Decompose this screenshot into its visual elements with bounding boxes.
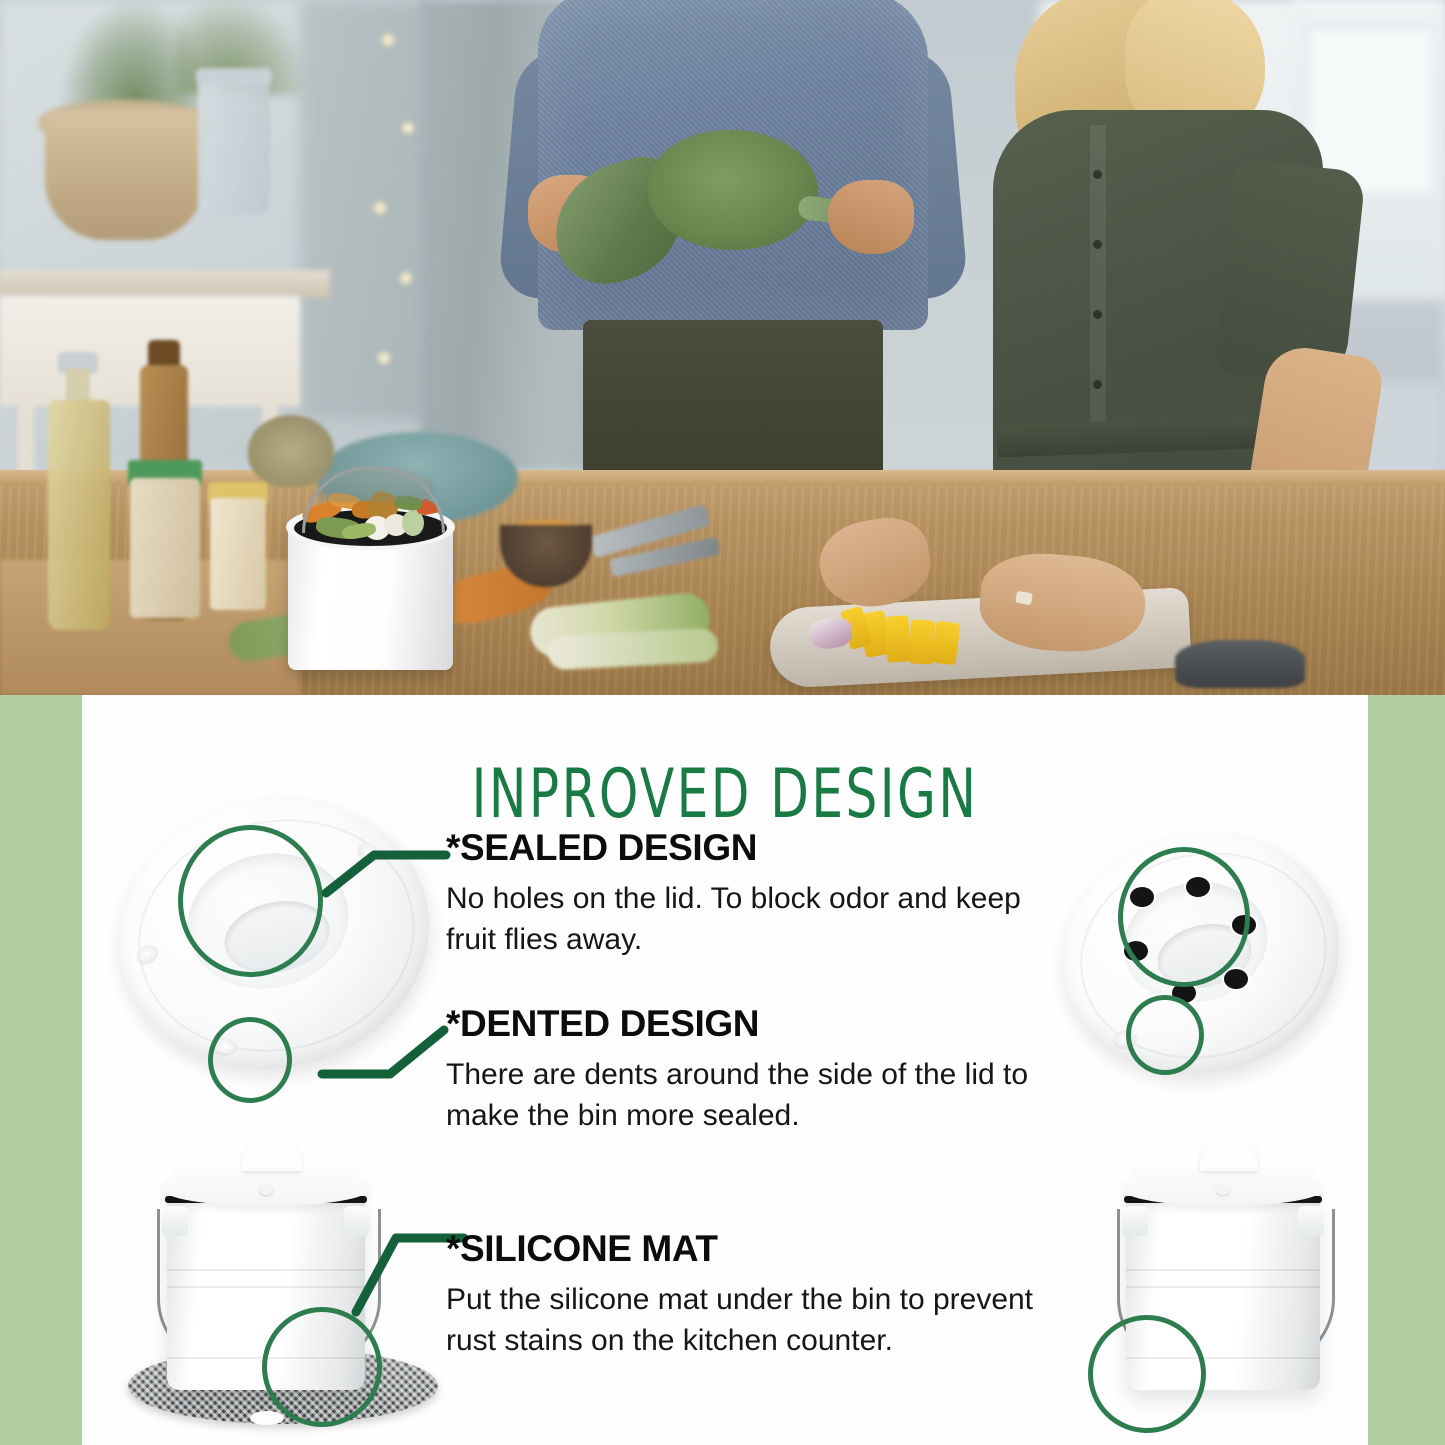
man-trousers	[583, 320, 883, 480]
feature-heading: *SEALED DESIGN	[446, 827, 1056, 869]
bin-handle-ear	[1298, 1206, 1324, 1236]
feature-sealed-design: *SEALED DESIGN No holes on the lid. To b…	[446, 827, 1056, 961]
ring-dent-rim-right	[1126, 995, 1204, 1075]
ring-sealed-center	[178, 825, 323, 977]
console-table-top	[0, 270, 330, 298]
feature-heading: *SILICONE MAT	[446, 1228, 1056, 1270]
lifestyle-photo	[0, 0, 1445, 695]
leader-line-sealed	[320, 835, 460, 905]
bin-lid-button	[259, 1185, 273, 1195]
wedding-ring	[1015, 591, 1033, 606]
ring-mat	[262, 1307, 382, 1427]
bin-lid-knob	[1200, 1132, 1258, 1171]
ring-holes	[1118, 847, 1250, 987]
feature-dented-design: *DENTED DESIGN There are dents around th…	[446, 1003, 1056, 1137]
silicone-mat-notch	[250, 1411, 284, 1425]
dark-pan	[1175, 640, 1305, 688]
infographic-canvas: INPROVED DESIGN	[0, 0, 1445, 1445]
bin-lid-button	[1216, 1185, 1230, 1195]
glass-jar-lid	[196, 68, 272, 84]
broccoli-icon	[648, 130, 818, 250]
ring-dent-rim	[208, 1017, 292, 1103]
feature-body: There are dents around the side of the l…	[446, 1055, 1056, 1137]
feature-heading: *DENTED DESIGN	[446, 1003, 1056, 1045]
man-right-hand	[828, 180, 914, 254]
bin-handle-ear	[1122, 1206, 1148, 1236]
bin-lid-knob	[242, 1132, 301, 1171]
dress-button	[1093, 380, 1102, 389]
improved-design-panel: INPROVED DESIGN	[0, 695, 1445, 1445]
bin-handle-ear	[162, 1206, 188, 1236]
bin-rib	[167, 1269, 365, 1271]
woven-basket	[45, 110, 205, 240]
lid-vent-hole	[1224, 969, 1248, 989]
person-man	[498, 0, 968, 460]
dress-button	[1093, 170, 1102, 179]
compost-bin-photo	[288, 452, 453, 670]
bin-rib	[1126, 1269, 1319, 1271]
spice-jar	[210, 498, 266, 610]
feature-body: No holes on the lid. To block odor and k…	[446, 879, 1056, 961]
feature-silicone-mat: *SILICONE MAT Put the silicone mat under…	[446, 1228, 1056, 1362]
spice-jar	[130, 478, 200, 618]
wall-pillar-back	[300, 0, 430, 420]
dress-button	[1093, 310, 1102, 319]
dress-button	[1093, 240, 1102, 249]
bin-rib	[1126, 1286, 1319, 1288]
glass-jar	[198, 75, 270, 215]
ring-no-mat	[1088, 1315, 1206, 1433]
feature-body: Put the silicone mat under the bin to pr…	[446, 1280, 1056, 1362]
leader-line-dented	[316, 1012, 464, 1090]
olive-oil-bottle	[48, 400, 110, 630]
bin-rib	[167, 1286, 365, 1288]
